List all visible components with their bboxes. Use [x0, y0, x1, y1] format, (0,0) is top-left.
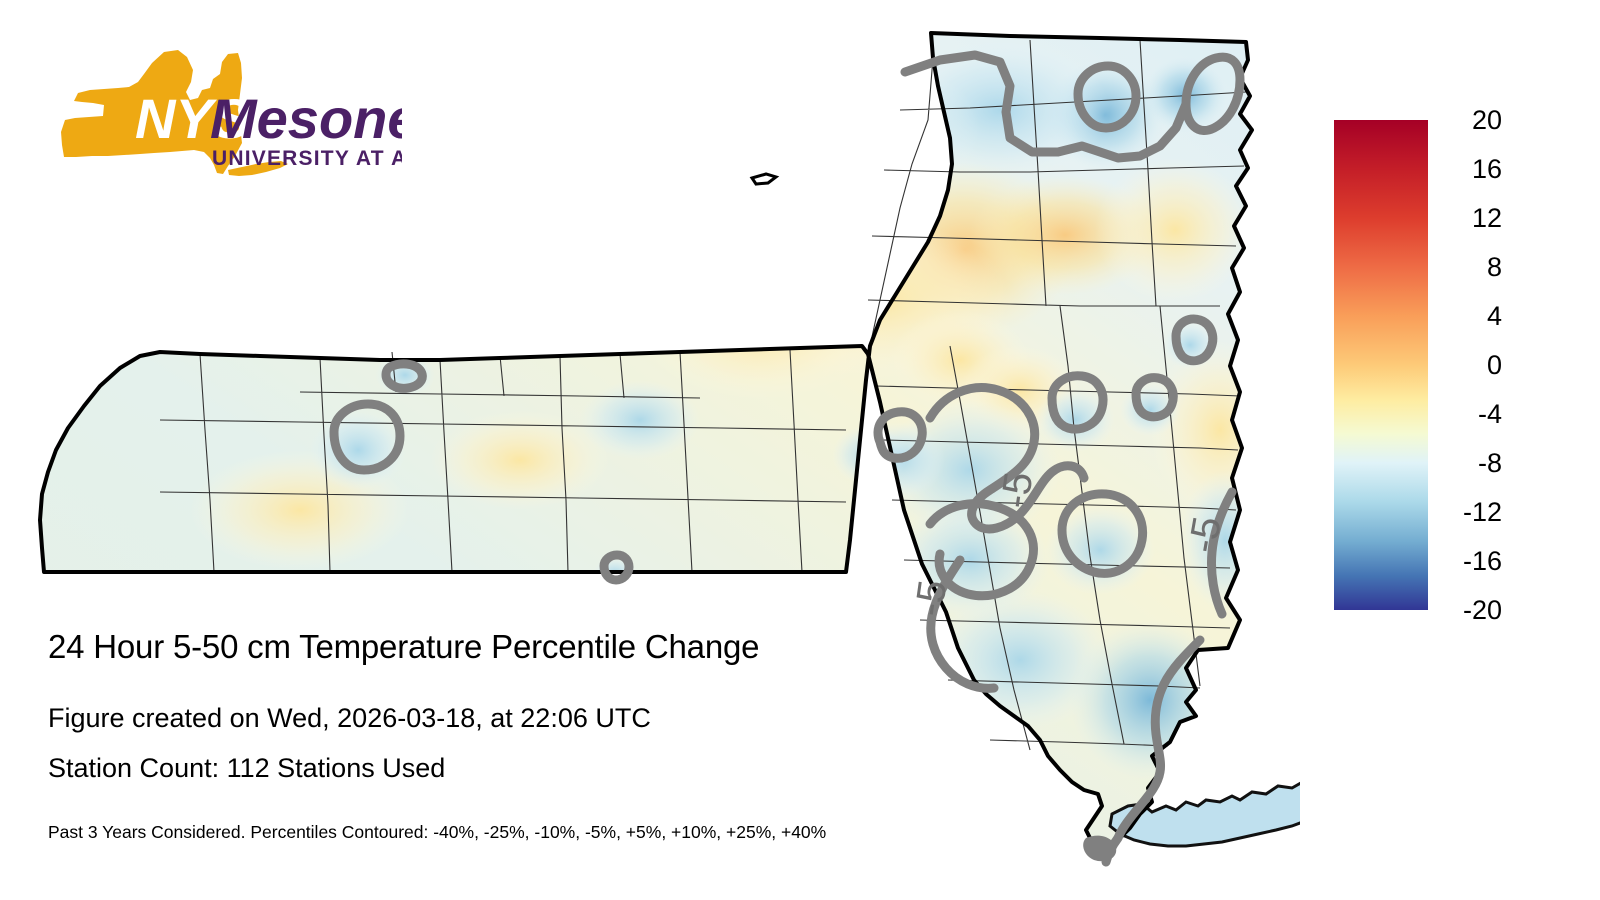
figure-created-on: Figure created on Wed, 2026-03-18, at 22…	[48, 703, 651, 734]
temperature-colorbar	[1334, 120, 1428, 610]
colorbar-tick-neg12: -12	[1440, 499, 1502, 526]
warm-blob-east	[1095, 158, 1255, 302]
colorbar-tick-4: 4	[1440, 303, 1502, 330]
station-count: Station Count: 112 Stations Used	[48, 753, 445, 784]
page-title: 24 Hour 5-50 cm Temperature Percentile C…	[48, 628, 759, 666]
colorbar-tick-8: 8	[1440, 254, 1502, 281]
colorbar-tick-20: 20	[1440, 107, 1502, 134]
contour-label-minus5-b: -5	[907, 578, 956, 619]
colorbar-tick-12: 12	[1440, 205, 1502, 232]
shore-detail	[752, 174, 776, 184]
cool-blob-jefferson	[740, 55, 980, 205]
contour-footnote: Past 3 Years Considered. Percentiles Con…	[48, 822, 826, 843]
colorbar-tick-neg20: -20	[1440, 597, 1502, 624]
colorbar-tick-neg8: -8	[1440, 450, 1502, 477]
colorbar-tick-neg16: -16	[1440, 548, 1502, 575]
contour-label-minus5-c: -5	[1180, 513, 1230, 556]
warm-blob-central	[640, 260, 880, 400]
colorbar-tick-0: 0	[1440, 352, 1502, 379]
colorbar-gradient	[1334, 120, 1428, 610]
colorbar-tick-labels: 201612840-4-8-12-16-20	[1440, 120, 1530, 610]
colorbar-tick-neg4: -4	[1440, 401, 1502, 428]
contour-label-minus5-a: -5	[993, 470, 1042, 511]
colorbar-tick-16: 16	[1440, 156, 1502, 183]
